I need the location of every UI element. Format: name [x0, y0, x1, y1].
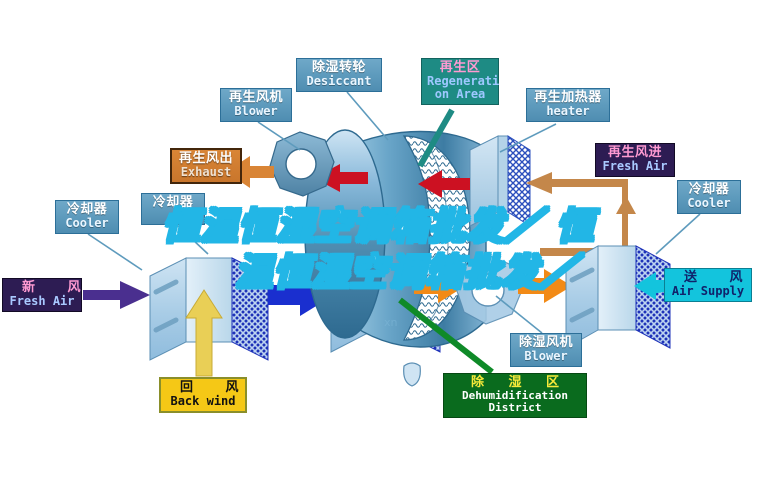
svg-text:xn: xn — [384, 316, 398, 329]
label-regeneration-area[interactable]: 再生区 Regenerati on Area — [421, 58, 499, 105]
label-regen-fresh-air[interactable]: 再生风进 Fresh Air — [595, 143, 675, 177]
label-back-wind-en: Back wind — [166, 395, 240, 408]
label-dehumidification-district-en: Dehumidification District — [449, 390, 581, 414]
label-fresh-air-inlet-en: Fresh Air — [8, 295, 76, 308]
label-cooler-left-outer[interactable]: 冷却器 Cooler — [55, 200, 119, 234]
label-regen-blower[interactable]: 再生风机 Blower — [220, 88, 292, 122]
label-regen-heater-cn: 再生加热器 — [532, 91, 604, 105]
label-dehumid-blower-cn: 除湿风机 — [516, 336, 576, 350]
label-cooler-left-outer-cn: 冷却器 — [61, 203, 113, 217]
label-regen-exhaust-en: Exhaust — [177, 166, 235, 179]
label-fresh-air-inlet-cn: 新 风 — [8, 281, 76, 295]
label-cooler-right-cn: 冷却器 — [683, 183, 735, 197]
label-air-supply-cn: 送 风 — [670, 271, 746, 285]
label-cooler-left-inner[interactable]: 冷却器 — [141, 193, 205, 225]
label-regen-fresh-air-cn: 再生风进 — [601, 146, 669, 160]
label-back-wind[interactable]: 回 风 Back wind — [159, 377, 247, 413]
label-air-supply-en: Air Supply — [670, 285, 746, 298]
label-regen-exhaust-cn: 再生风出 — [177, 152, 235, 166]
label-dehumidification-district-cn: 除 湿 区 — [449, 376, 581, 390]
label-desiccant-wheel[interactable]: 除湿转轮 Desiccant — [296, 58, 382, 92]
label-desiccant-wheel-cn: 除湿转轮 — [302, 61, 376, 75]
label-regen-exhaust[interactable]: 再生风出 Exhaust — [170, 148, 242, 184]
diagram-canvas: xn — [0, 0, 757, 488]
label-regeneration-area-cn: 再生区 — [427, 61, 493, 75]
regeneration-blower — [270, 132, 334, 196]
label-dehumidification-district[interactable]: 除 湿 区 Dehumidification District — [443, 373, 587, 418]
label-cooler-left-outer-en: Cooler — [61, 217, 113, 230]
label-dehumid-blower[interactable]: 除湿风机 Blower — [510, 333, 582, 367]
label-regen-blower-cn: 再生风机 — [226, 91, 286, 105]
label-fresh-air-inlet[interactable]: 新 风 Fresh Air — [2, 278, 82, 312]
label-air-supply[interactable]: 送 风 Air Supply — [664, 268, 752, 302]
label-regen-heater-en: heater — [532, 105, 604, 118]
label-regen-heater[interactable]: 再生加热器 heater — [526, 88, 610, 122]
label-cooler-right-en: Cooler — [683, 197, 735, 210]
label-regen-fresh-air-en: Fresh Air — [601, 160, 669, 173]
label-regeneration-area-en: Regenerati on Area — [427, 75, 493, 101]
label-dehumid-blower-en: Blower — [516, 350, 576, 363]
label-desiccant-wheel-en: Desiccant — [302, 75, 376, 88]
regeneration-heater — [470, 136, 530, 226]
label-back-wind-cn: 回 风 — [166, 381, 240, 395]
flow-arrow-dry-2 — [518, 269, 572, 303]
label-regen-blower-en: Blower — [226, 105, 286, 118]
label-cooler-left-inner-cn: 冷却器 — [147, 196, 199, 210]
label-cooler-right[interactable]: 冷却器 Cooler — [677, 180, 741, 214]
